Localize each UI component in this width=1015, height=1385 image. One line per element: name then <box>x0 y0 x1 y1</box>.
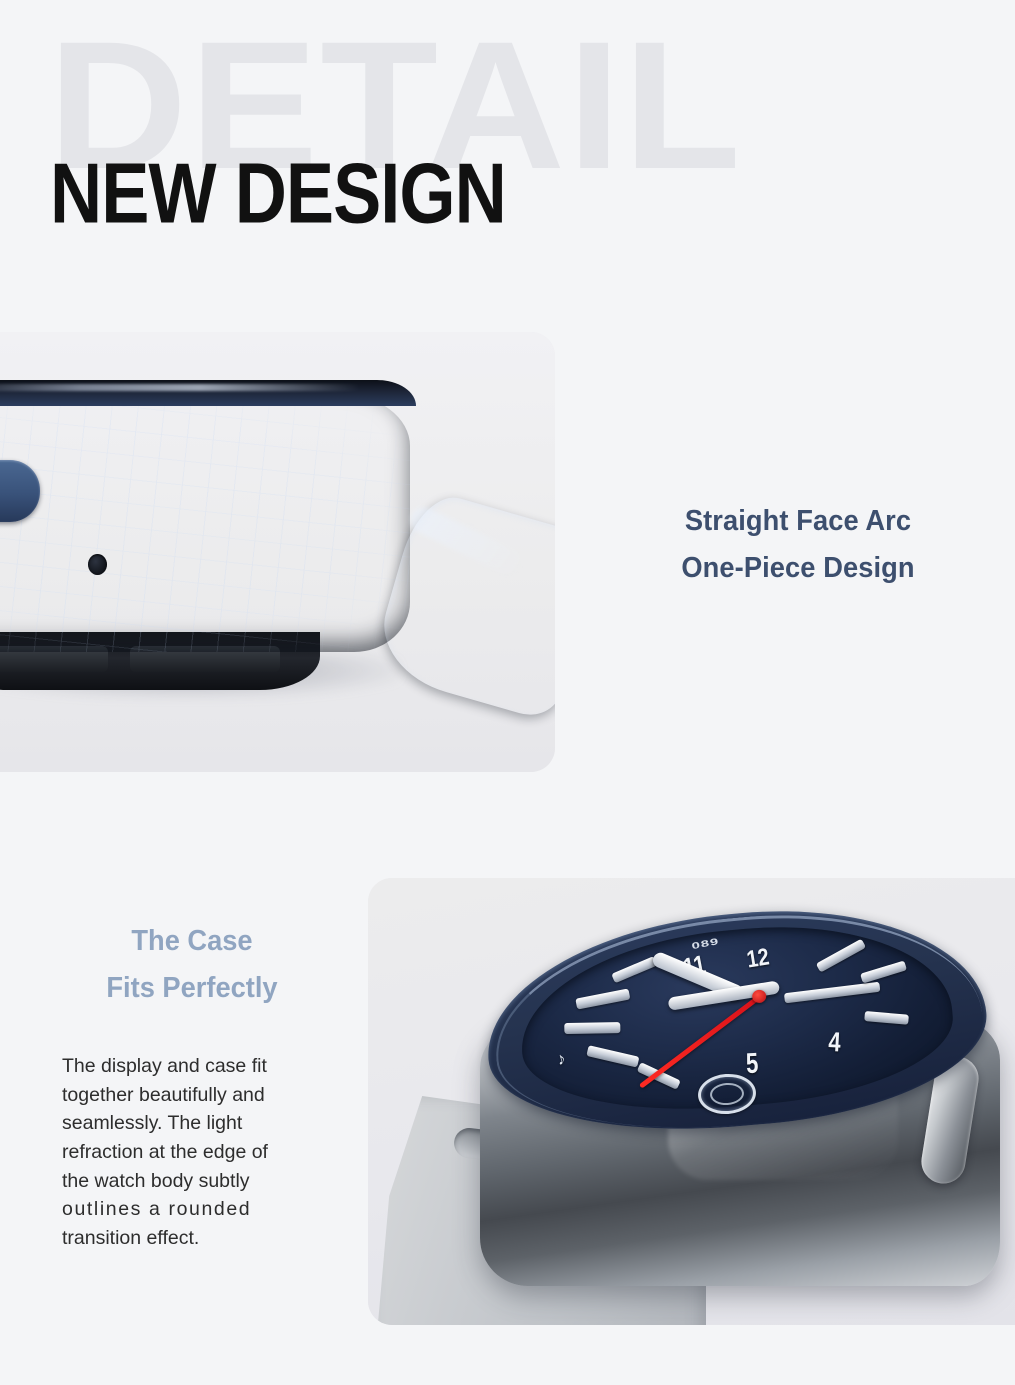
body-line: together beautifully and <box>62 1081 324 1110</box>
dial-top-label: 089 <box>691 936 720 951</box>
case-fits-perfectly-body-text: The display and case fit together beauti… <box>62 1052 324 1253</box>
watch-side-profile-photo <box>0 332 555 772</box>
dial-numeral: 4 <box>828 1026 842 1059</box>
second-hand <box>639 994 762 1088</box>
body-line: refraction at the edge of <box>62 1138 324 1167</box>
caption-line-2: Fits Perfectly <box>32 965 352 1012</box>
body-line: outlines a rounded <box>62 1195 324 1224</box>
dial-tick <box>860 960 907 983</box>
watch-angled-case-photo: 089 11 12 4 5 ♪ <box>368 878 1015 1325</box>
dial-tick <box>564 1022 620 1034</box>
dial-tick <box>816 939 866 973</box>
dial-tick <box>575 988 630 1009</box>
watch-angled-case-card: 089 11 12 4 5 ♪ <box>368 878 1015 1325</box>
dial-center-pin <box>752 989 767 1003</box>
dial-tick <box>864 1011 909 1025</box>
dial-tick <box>586 1045 639 1067</box>
dial-numeral: 12 <box>745 944 771 975</box>
body-line: seamlessly. The light <box>62 1109 324 1138</box>
page-header: DETAIL NEW DESIGN <box>0 0 1015 300</box>
caption-line-2: One-Piece Design <box>623 545 973 592</box>
music-note-icon: ♪ <box>554 1049 568 1071</box>
microphone-hole <box>88 554 107 575</box>
body-line: transition effect. <box>62 1224 324 1253</box>
wireframe-texture-overlay <box>0 394 410 652</box>
dial-numeral: 5 <box>745 1047 759 1081</box>
watch-side-profile-card <box>0 332 555 772</box>
straight-face-arc-caption: Straight Face Arc One-Piece Design <box>623 498 973 592</box>
dial-tick <box>784 982 881 1004</box>
page-title: NEW DESIGN <box>50 152 506 237</box>
case-edge-highlight <box>0 384 360 391</box>
caption-line-1: The Case <box>32 918 352 965</box>
dial-tick <box>611 956 657 983</box>
case-fits-perfectly-caption: The Case Fits Perfectly <box>32 918 352 1012</box>
body-line: The display and case fit <box>62 1052 324 1081</box>
body-line: the watch body subtly <box>62 1167 324 1196</box>
caption-line-1: Straight Face Arc <box>623 498 973 545</box>
